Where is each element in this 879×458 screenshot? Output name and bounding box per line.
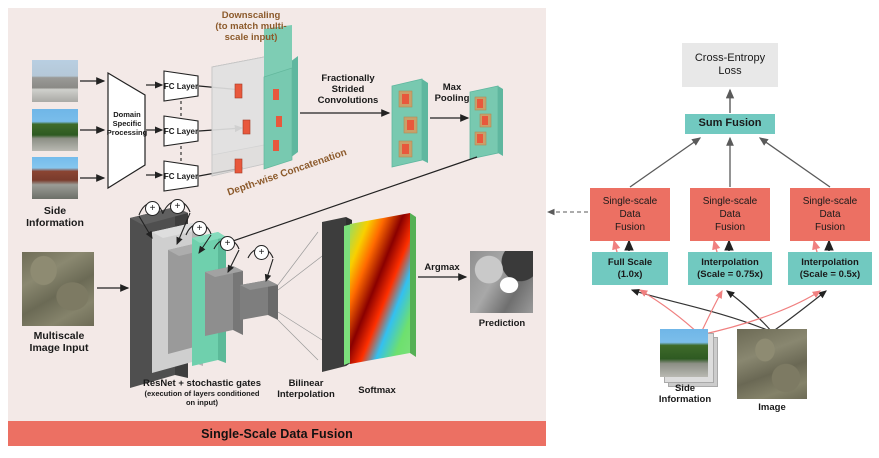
scale-3-line-2: (Scale = 0.5x) bbox=[800, 269, 860, 280]
gate-plus-icon-2: + bbox=[170, 199, 185, 214]
fusion-2-line-2: Data bbox=[719, 208, 740, 221]
fusion-3-line-3: Fusion bbox=[815, 221, 845, 234]
prediction-image bbox=[470, 251, 533, 313]
fusion-1-line-2: Data bbox=[619, 208, 640, 221]
right-image-label: Image bbox=[737, 402, 807, 413]
single-scale-fusion-box-3: Single-scale Data Fusion bbox=[790, 188, 870, 241]
max-pooling-label: Max Pooling bbox=[430, 82, 474, 104]
bilinear-interpolation-label: Bilinear Interpolation bbox=[268, 378, 344, 400]
gate-plus-icon-4: + bbox=[220, 236, 235, 251]
single-scale-data-fusion-banner: Single-Scale Data Fusion bbox=[8, 421, 546, 446]
softmax-label: Softmax bbox=[348, 385, 406, 396]
banner-label: Single-Scale Data Fusion bbox=[201, 427, 353, 441]
gate-symbol: + bbox=[150, 204, 156, 214]
resnet-label: ResNet + stochastic gates bbox=[112, 378, 292, 389]
right-input-image bbox=[737, 329, 807, 399]
fusion-3-line-1: Single-scale bbox=[803, 195, 857, 208]
fusion-2-line-3: Fusion bbox=[715, 221, 745, 234]
cross-entropy-loss-box: Cross-Entropy Loss bbox=[682, 43, 778, 87]
scale-box-05: Interpolation (Scale = 0.5x) bbox=[788, 252, 872, 285]
downscaling-label: Downscaling (to match multi- scale input… bbox=[196, 10, 306, 44]
gate-plus-icon-5: + bbox=[254, 245, 269, 260]
single-scale-fusion-box-2: Single-scale Data Fusion bbox=[690, 188, 770, 241]
side-info-stack-photo bbox=[660, 329, 708, 377]
fusion-2-line-1: Single-scale bbox=[703, 195, 757, 208]
scale-box-075: Interpolation (Scale = 0.75x) bbox=[688, 252, 772, 285]
prediction-label: Prediction bbox=[468, 318, 536, 329]
fusion-1-line-3: Fusion bbox=[615, 221, 645, 234]
fc-layer-label-2: FC Layer bbox=[163, 127, 199, 136]
loss-line-2: Loss bbox=[718, 65, 741, 78]
scale-1-line-2: (1.0x) bbox=[618, 269, 643, 280]
right-side-information-label: Side Information bbox=[640, 383, 730, 405]
scale-2-line-2: (Scale = 0.75x) bbox=[697, 269, 763, 280]
gate-plus-icon-1: + bbox=[145, 201, 160, 216]
fusion-3-line-2: Data bbox=[819, 208, 840, 221]
sum-fusion-box: Sum Fusion bbox=[685, 114, 775, 134]
domain-specific-processing-label: Domain Specific Processing bbox=[104, 111, 150, 138]
fc-layer-label-1: FC Layer bbox=[163, 82, 199, 91]
fusion-1-line-1: Single-scale bbox=[603, 195, 657, 208]
loss-line-1: Cross-Entropy bbox=[695, 52, 765, 65]
resnet-sublabel: (execution of layers conditioned on inpu… bbox=[112, 390, 292, 408]
scale-3-line-1: Interpolation bbox=[801, 257, 859, 268]
single-scale-fusion-box-1: Single-scale Data Fusion bbox=[590, 188, 670, 241]
scale-1-line-1: Full Scale bbox=[608, 257, 652, 268]
fractionally-strided-convolutions-label: Fractionally Strided Convolutions bbox=[306, 73, 390, 107]
fc-layer-label-3: FC Layer bbox=[163, 172, 199, 181]
argmax-label: Argmax bbox=[418, 262, 466, 273]
sum-fusion-label: Sum Fusion bbox=[699, 117, 762, 130]
scale-box-full: Full Scale (1.0x) bbox=[592, 252, 668, 285]
scale-2-line-1: Interpolation bbox=[701, 257, 759, 268]
gate-plus-icon-3: + bbox=[192, 221, 207, 236]
